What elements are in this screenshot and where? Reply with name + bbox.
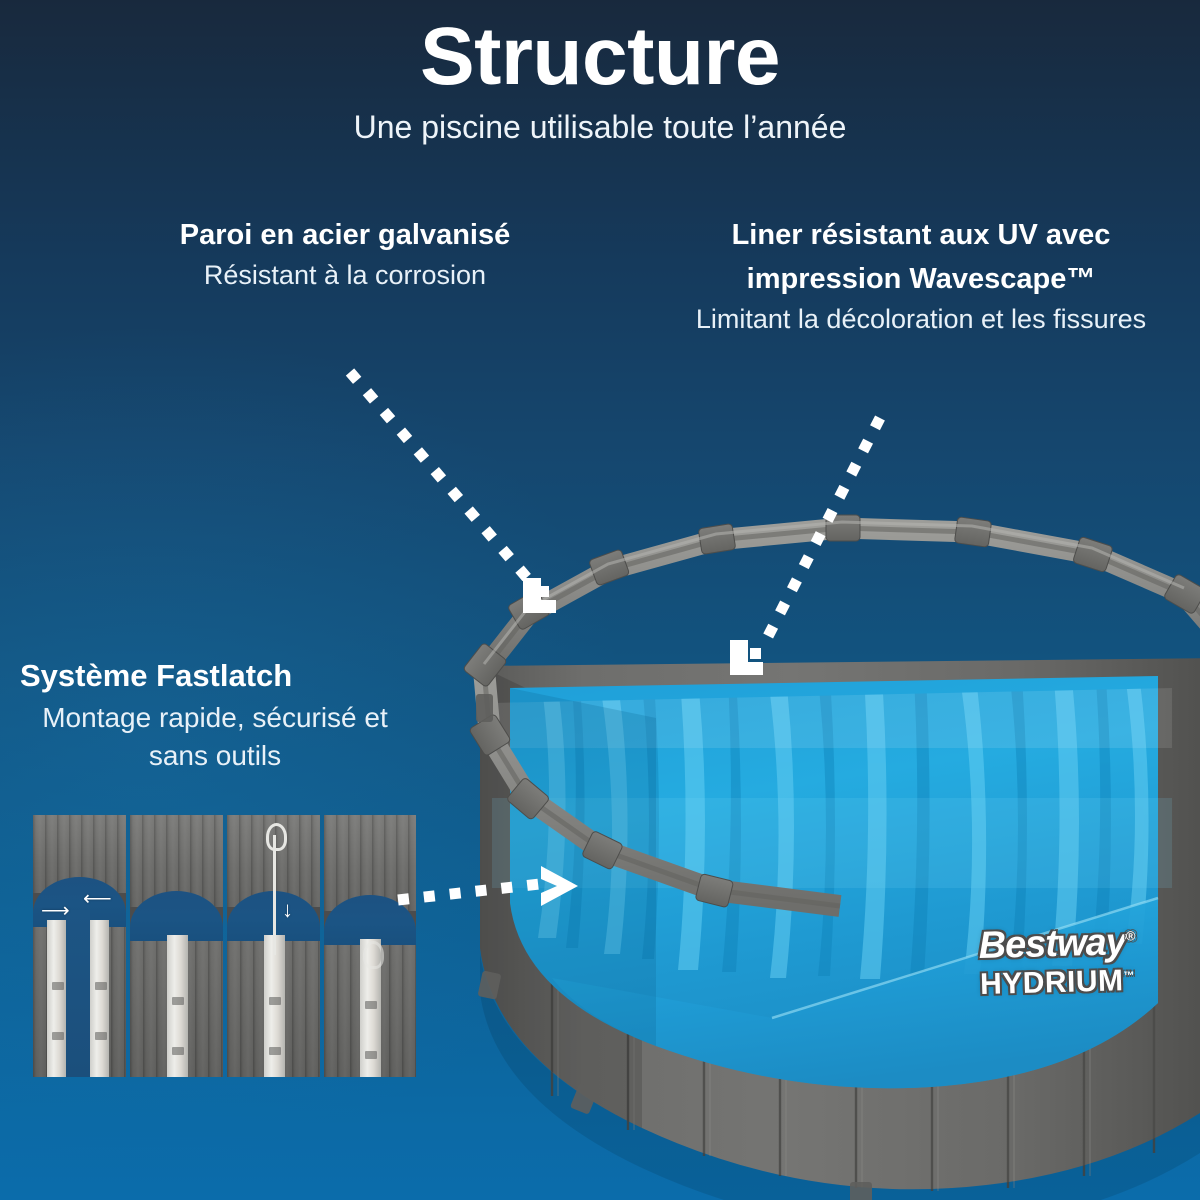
locking-pin-head-icon — [363, 941, 384, 969]
infographic-canvas: Structure Une piscine utilisable toute l… — [0, 0, 1200, 1200]
arrow-right-icon: ⟶ — [41, 901, 70, 921]
callout-uv-liner: Liner résistant aux UV avec impression W… — [676, 213, 1166, 337]
arrow-down-icon: ↓ — [282, 899, 293, 921]
page-subtitle: Une piscine utilisable toute l’année — [0, 108, 1200, 146]
page-title: Structure — [0, 14, 1200, 100]
fastlatch-step-panel: ↓ — [227, 815, 320, 1077]
callout-steel-wall-title: Paroi en acier galvanisé — [150, 213, 540, 257]
latch-strut-left — [47, 920, 66, 1077]
callout-steel-wall: Paroi en acier galvanisé Résistant à la … — [150, 213, 540, 293]
fastlatch-step-panel — [130, 815, 223, 1077]
callout-steel-wall-subtitle: Résistant à la corrosion — [150, 257, 540, 293]
latch-strut-right — [90, 920, 109, 1077]
panel-seam-gap — [66, 910, 90, 1077]
arrow-left-icon: ⟵ — [83, 889, 112, 909]
fastlatch-step-panel: ⟶ ⟵ — [33, 815, 126, 1077]
callout-fastlatch: Système Fastlatch Montage rapide, sécuri… — [20, 652, 420, 774]
callout-uv-liner-title: Liner résistant aux UV avec impression W… — [676, 213, 1166, 301]
latch-strut-joined — [264, 935, 285, 1077]
callout-fastlatch-title: Système Fastlatch — [20, 652, 420, 699]
latch-strut-joined — [167, 935, 188, 1077]
fastlatch-step-strip: ⟶ ⟵ ↓ — [33, 815, 416, 1077]
locking-pin-head-icon — [266, 823, 287, 851]
header-block: Structure Une piscine utilisable toute l… — [0, 14, 1200, 146]
callout-fastlatch-subtitle: Montage rapide, sécurisé et sans outils — [20, 699, 410, 774]
fastlatch-step-panel — [324, 815, 416, 1077]
pool-illustration — [432, 498, 1200, 1198]
locking-pin-shaft — [273, 835, 276, 955]
callout-uv-liner-subtitle: Limitant la décoloration et les fissures — [676, 301, 1166, 337]
